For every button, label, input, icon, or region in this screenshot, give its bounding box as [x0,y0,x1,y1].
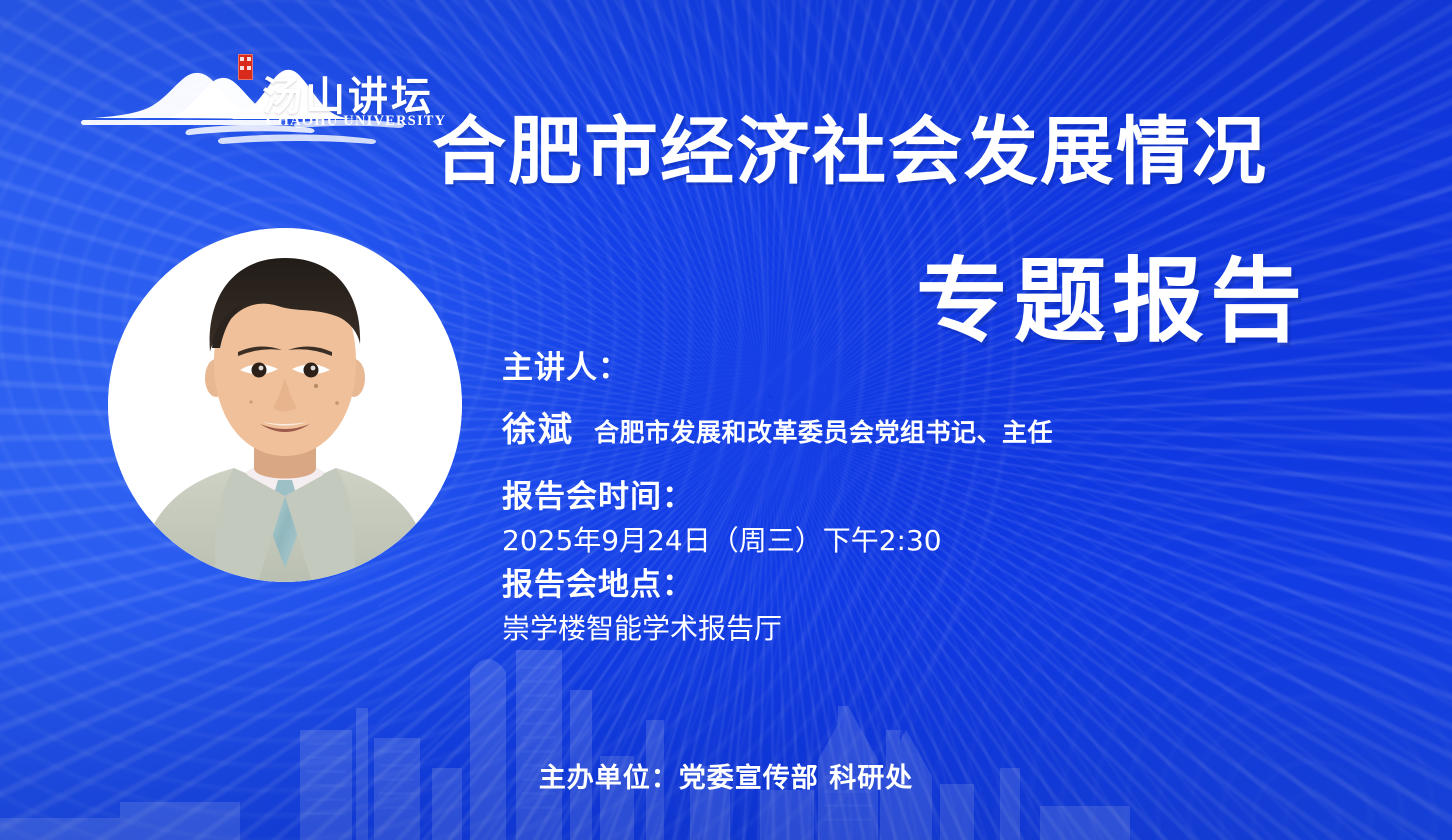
logo-english-name: CHAOHU UNIVERSITY [266,113,446,130]
speaker-row: 徐斌 合肥市发展和改革委员会党组书记、主任 [502,402,1202,451]
chaohu-university-logo: 汤山讲坛 CHAOHU UNIVERSITY [72,52,412,144]
speaker-role: 合肥市发展和改革委员会党组书记、主任 [594,413,1053,449]
red-seal-icon [238,54,253,80]
speaker-name: 徐斌 [502,402,574,451]
speaker-label: 主讲人： [502,348,1202,388]
portrait-illustration [108,228,462,582]
place-label: 报告会地点： [502,565,1202,605]
place-value: 崇学楼智能学术报告厅 [502,609,1202,649]
time-label: 报告会时间： [502,477,1202,517]
poster-title-line-1: 合肥市经济社会发展情况 [432,112,1268,192]
event-details: 主讲人： 徐斌 合肥市发展和改革委员会党组书记、主任 报告会时间： 2025年9… [502,348,1202,649]
event-poster: 汤山讲坛 CHAOHU UNIVERSITY 合肥市经济社会发展情况 专题报告 [0,0,1452,840]
time-value: 2025年9月24日（周三）下午2:30 [502,521,1202,561]
speaker-portrait [108,228,462,582]
organizer-line: 主办单位：党委宣传部 科研处 [0,756,1452,795]
poster-title-line-2: 专题报告 [916,252,1308,352]
